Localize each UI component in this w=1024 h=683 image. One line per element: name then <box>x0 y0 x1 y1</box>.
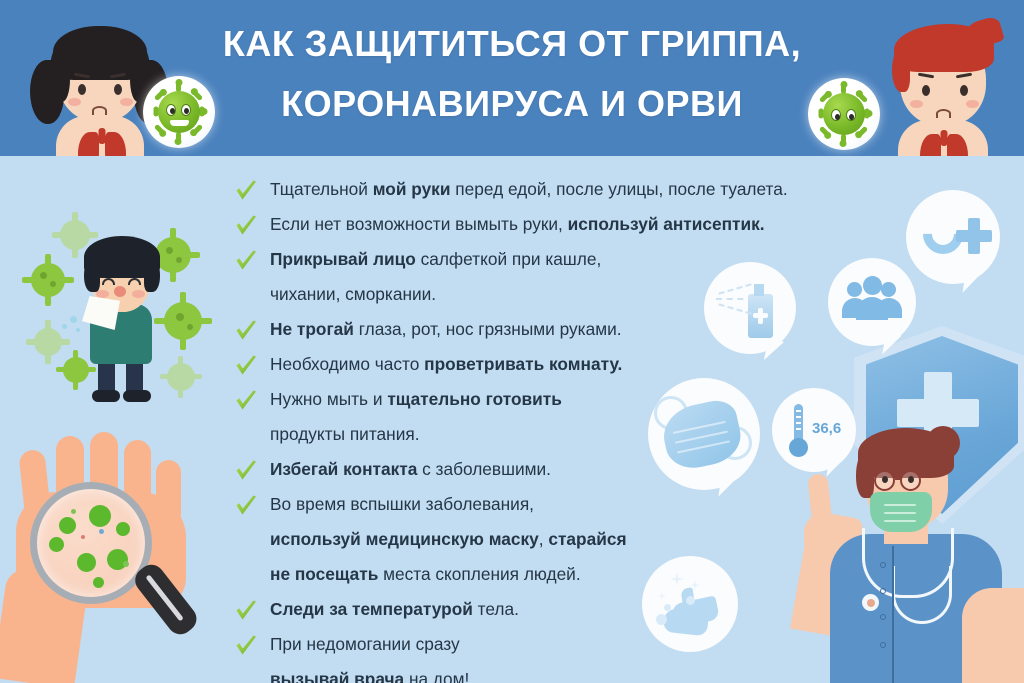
recommendation-item: Необходимо часто проветривать комнату. <box>232 347 892 382</box>
recommendation-item: Прикрывай лицо салфеткой при кашле, <box>232 242 892 277</box>
bubble-tail <box>718 473 739 499</box>
recommendation-continuation: используй медицинскую маску, старайся <box>232 522 892 557</box>
man-hair-side <box>144 258 160 292</box>
sanitizer-bottle <box>748 294 773 338</box>
germ-small <box>123 561 129 567</box>
recommendation-text: Тщательной мой руки перед едой, после ул… <box>270 179 788 199</box>
lung-right <box>105 132 126 156</box>
text-emphasis: используй антисептик. <box>568 214 765 234</box>
virus-eye-right <box>846 109 856 121</box>
germ-small <box>71 509 76 514</box>
check-icon <box>234 599 258 621</box>
man-cheek-left <box>96 290 109 298</box>
germ-small <box>99 529 104 534</box>
tissue <box>82 296 120 330</box>
recommendation-text: вызывай врача на дом! <box>270 669 469 683</box>
text-plain: чихании, сморкании. <box>270 284 436 304</box>
germ <box>93 577 104 588</box>
check-icon <box>234 459 258 481</box>
boy-hair-side <box>892 48 910 92</box>
germ <box>49 537 64 552</box>
text-plain: , <box>539 529 549 549</box>
doctor-eye-left <box>882 476 888 483</box>
text-emphasis: используй медицинскую маску <box>270 529 539 549</box>
scrubs-button <box>880 614 886 620</box>
virus-particle <box>154 292 212 350</box>
person-center <box>856 276 888 320</box>
virus-pupil <box>849 114 854 120</box>
medical-cross-icon <box>956 230 992 242</box>
man-eye-closed-right <box>128 278 141 285</box>
spray-ray <box>718 283 751 294</box>
scrubs-button <box>880 588 886 594</box>
medical-mask-icon <box>648 378 760 490</box>
text-plain: на дом! <box>404 669 469 683</box>
virus-body <box>823 93 865 135</box>
text-emphasis: вызывай врача <box>270 669 404 683</box>
recommendation-text: Во время вспышки заболевания, <box>270 494 534 514</box>
recommendation-text: продукты питания. <box>270 424 420 444</box>
magnifier-lens <box>30 482 152 604</box>
hand-wash-icon <box>642 556 738 652</box>
man-eye-closed-left <box>102 278 115 285</box>
recommendation-item: При недомогании сразу <box>232 627 892 662</box>
check-icon <box>234 354 258 376</box>
boy-mouth <box>936 109 951 118</box>
recommendation-text: чихании, сморкании. <box>270 284 436 304</box>
check-icon <box>234 389 258 411</box>
virus-spike <box>841 134 846 144</box>
text-plain: тела. <box>473 599 519 619</box>
man-cheek-right <box>132 290 145 298</box>
check-icon <box>234 319 258 341</box>
check-icon <box>234 214 258 236</box>
boy-cheek-right <box>966 100 979 108</box>
recommendation-text: Нужно мыть и тщательно готовить <box>270 389 562 409</box>
spray-sanitizer-icon <box>704 262 796 354</box>
spray-nozzle <box>754 284 764 296</box>
virus-pupil <box>835 114 840 120</box>
text-plain: Если нет возможности вымыть руки, <box>270 214 568 234</box>
check-icon <box>234 249 258 271</box>
girl-lungs <box>78 132 126 156</box>
stethoscope-bell <box>862 594 879 611</box>
text-plain: Во время вспышки заболевания, <box>270 494 534 514</box>
text-emphasis: тщательно готовить <box>387 389 562 409</box>
bubble-tail <box>963 271 982 295</box>
people-group-icon <box>828 258 916 346</box>
text-plain: продукты питания. <box>270 424 420 444</box>
recommendation-text: Избегай контакта с заболевшими. <box>270 459 551 479</box>
recommendation-item: Во время вспышки заболевания, <box>232 487 892 522</box>
boy-lungs <box>920 134 968 156</box>
sparkle <box>670 572 684 586</box>
text-plain: салфеткой при кашле, <box>416 249 601 269</box>
man-nose-red <box>114 286 126 297</box>
text-emphasis: мой руки <box>373 179 451 199</box>
text-plain: места скопления людей. <box>378 564 580 584</box>
germ <box>77 553 96 572</box>
virus-particle <box>22 254 74 306</box>
text-plain: Тщательной <box>270 179 373 199</box>
bubble-tail <box>715 583 736 602</box>
germ-small <box>81 535 85 539</box>
poster-root: КАК ЗАЩИТИТЬСЯ ОТ ГРИППА, КОРОНАВИРУСА И… <box>0 0 1024 683</box>
text-emphasis: Не трогай <box>270 319 354 339</box>
recommendation-text: Не трогай глаза, рот, нос грязными рукам… <box>270 319 622 339</box>
droplet <box>70 316 77 323</box>
sneezing-man-illustration <box>8 208 223 420</box>
droplet <box>76 328 80 332</box>
sparkle <box>658 592 666 600</box>
spray-ray <box>718 303 751 314</box>
boy-eye-left <box>922 85 930 96</box>
recommendation-text: Следи за температурой тела. <box>270 599 519 619</box>
recommendation-continuation: не посещать места скопления людей. <box>232 557 892 592</box>
recommendation-item: Тщательной мой руки перед едой, после ул… <box>232 172 892 207</box>
glasses-bridge <box>895 478 901 480</box>
soap-bubble <box>664 604 671 611</box>
text-emphasis: старайся <box>548 529 626 549</box>
hand-germs-magnifier-illustration <box>0 430 229 683</box>
check-icon <box>234 179 258 201</box>
check-icon <box>234 494 258 516</box>
lung-right <box>947 134 968 156</box>
boy-eye-right <box>960 85 968 96</box>
doctor-mask <box>870 492 932 532</box>
text-plain: глаза, рот, нос грязными руками. <box>354 319 622 339</box>
stethoscope-loop <box>892 566 952 624</box>
text-plain: Нужно мыть и <box>270 389 387 409</box>
text-emphasis: проветривать комнату. <box>424 354 622 374</box>
scrubs-button <box>880 642 886 648</box>
doctor-hair-bun <box>926 426 960 460</box>
text-plain: перед едой, после улицы, после туалета. <box>450 179 787 199</box>
virus-eye-left <box>831 109 841 121</box>
droplet <box>62 324 67 329</box>
text-emphasis: Избегай контакта <box>270 459 417 479</box>
text-emphasis: не посещать <box>270 564 378 584</box>
doctor-arm-right <box>962 588 1024 683</box>
text-emphasis: Следи за температурой <box>270 599 473 619</box>
soap-bubble <box>686 596 695 605</box>
recommendation-text: не посещать места скопления людей. <box>270 564 581 584</box>
doctor-hair-side <box>856 452 874 498</box>
scrubs-button <box>880 562 886 568</box>
recommendation-text: Если нет возможности вымыть руки, исполь… <box>270 214 765 234</box>
man-shoe-right <box>123 390 151 402</box>
soap-bubble <box>656 614 667 625</box>
doctor-eye-right <box>908 476 914 483</box>
germ <box>116 522 130 536</box>
virus-particle <box>160 356 202 398</box>
recommendation-text: При недомогании сразу <box>270 634 460 654</box>
scrubs-placket <box>892 546 894 683</box>
boy-cheek-left <box>910 100 923 108</box>
text-plain: При недомогании сразу <box>270 634 460 654</box>
header-band: КАК ЗАЩИТИТЬСЯ ОТ ГРИППА, КОРОНАВИРУСА И… <box>0 0 1024 156</box>
germ <box>89 505 111 527</box>
sad-boy-lungs-illustration <box>868 14 1018 156</box>
spray-ray <box>716 298 754 300</box>
text-emphasis: Прикрывай лицо <box>270 249 416 269</box>
recommendation-text: используй медицинскую маску, старайся <box>270 529 627 549</box>
lung-left <box>920 134 941 156</box>
recommendation-continuation: вызывай врача на дом! <box>232 662 892 683</box>
man-shoe-left <box>92 390 120 402</box>
medical-cross-icon <box>753 313 768 318</box>
text-plain: с заболевшими. <box>417 459 551 479</box>
germ <box>59 517 76 534</box>
doctor-thumbs-up-illustration <box>800 418 1024 683</box>
phone-medical-icon <box>906 190 1000 284</box>
recommendation-item: Если нет возможности вымыть руки, исполь… <box>232 207 892 242</box>
lung-left <box>78 132 99 156</box>
recommendation-text: Необходимо часто проветривать комнату. <box>270 354 622 374</box>
man-hair-side <box>84 258 100 292</box>
recommendation-text: Прикрывай лицо салфеткой при кашле, <box>270 249 601 269</box>
text-plain: Необходимо часто <box>270 354 424 374</box>
check-icon <box>234 634 258 656</box>
washing-hand-front <box>663 608 709 636</box>
